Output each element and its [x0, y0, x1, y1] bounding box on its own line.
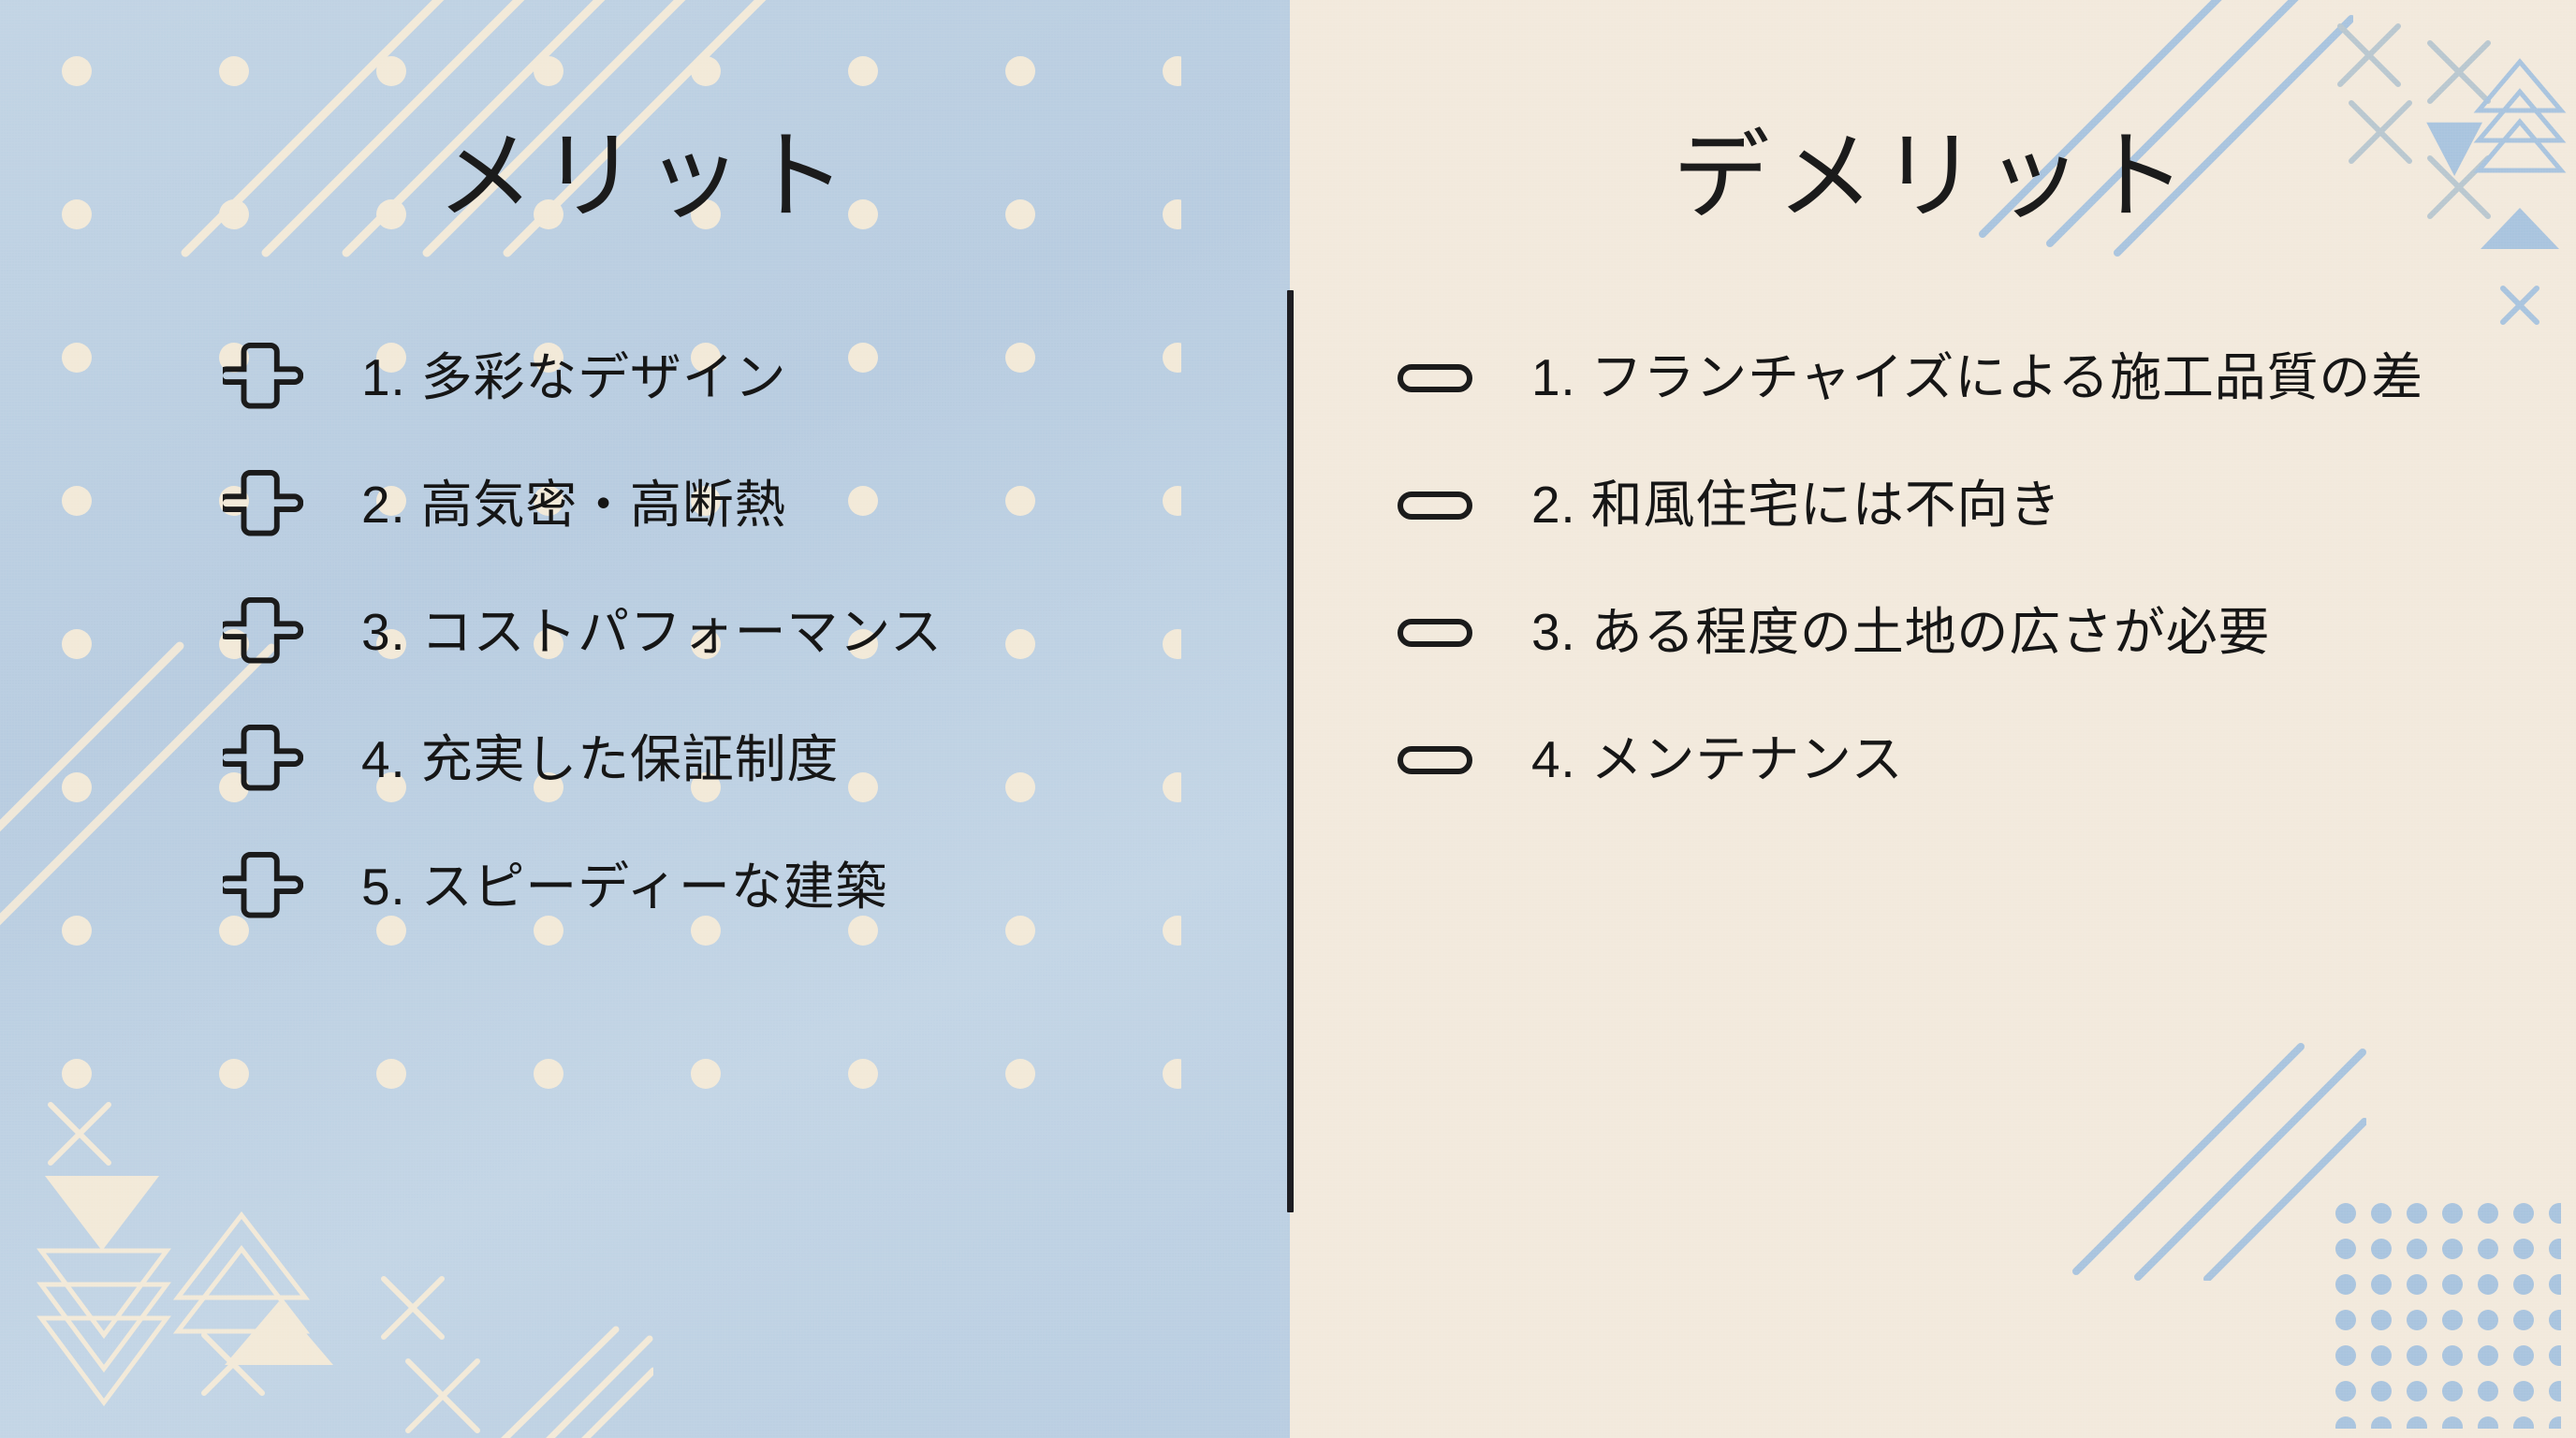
minus-icon — [1395, 338, 1475, 418]
list-item-label: 4. 充実した保証制度 — [361, 734, 839, 785]
demerit-panel: デメリット 1. フランチャイズによる施工品質の差 — [1290, 0, 2576, 1438]
minus-icon — [1395, 593, 1475, 673]
list-item[interactable]: 2. 和風住宅には不向き — [1290, 442, 2576, 569]
center-divider — [1287, 290, 1294, 1212]
list-item[interactable]: 4. 充実した保証制度 — [0, 697, 1290, 824]
plus-icon — [223, 593, 303, 673]
list-item[interactable]: 1. フランチャイズによる施工品質の差 — [1290, 315, 2576, 442]
demerit-content: デメリット 1. フランチャイズによる施工品質の差 — [1290, 0, 2576, 1438]
minus-icon — [1395, 720, 1475, 800]
list-item[interactable]: 1. 多彩なデザイン — [0, 315, 1290, 442]
merit-list: 1. 多彩なデザイン 2. 高気密・高断熱 — [0, 315, 1290, 951]
list-item-label: 4. メンテナンス — [1531, 734, 1903, 785]
list-item-label: 1. フランチャイズによる施工品質の差 — [1531, 352, 2423, 404]
list-item[interactable]: 4. メンテナンス — [1290, 697, 2576, 824]
merit-title: メリット — [0, 0, 1290, 234]
plus-icon — [223, 720, 303, 800]
merit-panel: メリット 1. 多彩なデザイン 2. — [0, 0, 1290, 1438]
list-item-label: 5. スピーディーな建築 — [361, 861, 887, 913]
comparison-slide: メリット 1. 多彩なデザイン 2. — [0, 0, 2576, 1438]
list-item[interactable]: 2. 高気密・高断熱 — [0, 442, 1290, 569]
plus-icon — [223, 338, 303, 418]
plus-icon — [223, 465, 303, 546]
demerit-title: デメリット — [1290, 0, 2576, 234]
list-item-label: 2. 高気密・高断熱 — [361, 479, 786, 531]
list-item-label: 3. ある程度の土地の広さが必要 — [1531, 607, 2270, 658]
list-item-label: 2. 和風住宅には不向き — [1531, 479, 2061, 531]
plus-icon — [223, 847, 303, 928]
list-item-label: 3. コストパフォーマンス — [361, 607, 943, 658]
list-item-label: 1. 多彩なデザイン — [361, 352, 786, 404]
merit-content: メリット 1. 多彩なデザイン 2. — [0, 0, 1290, 1438]
minus-icon — [1395, 465, 1475, 546]
list-item[interactable]: 3. コストパフォーマンス — [0, 569, 1290, 697]
list-item[interactable]: 3. ある程度の土地の広さが必要 — [1290, 569, 2576, 697]
list-item[interactable]: 5. スピーディーな建築 — [0, 824, 1290, 951]
demerit-list: 1. フランチャイズによる施工品質の差 2. 和風住宅には不向き — [1290, 315, 2576, 824]
